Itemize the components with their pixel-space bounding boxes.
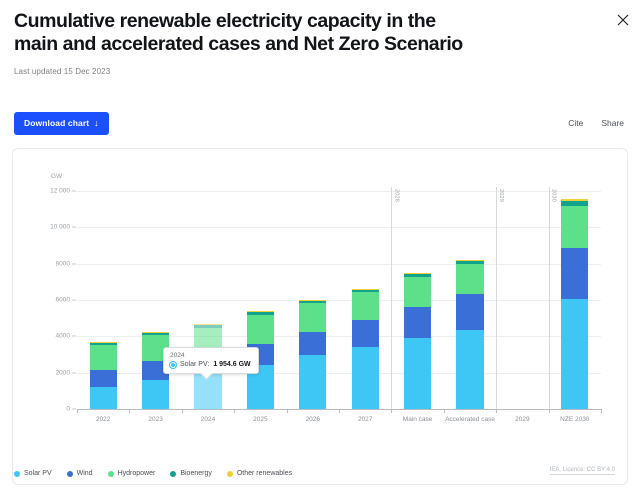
bar-segment-solar-pv <box>352 347 379 409</box>
bar-segment-bioenergy <box>142 333 169 336</box>
bar-segment-wind <box>299 332 326 356</box>
x-axis-tick-mark <box>549 409 550 413</box>
bar-2023[interactable] <box>142 191 169 409</box>
bar-segment-bioenergy <box>90 342 117 345</box>
y-axis-tick-label: 4000 <box>56 333 70 340</box>
legend-item-hydropower[interactable]: Hydropower <box>108 470 156 477</box>
cite-link[interactable]: Cite <box>568 118 583 128</box>
bar-segment-hydropower <box>247 315 274 344</box>
x-axis-tick-mark <box>601 409 602 413</box>
legend-color-dot-icon <box>170 471 176 477</box>
bar-segment-other-renewables <box>561 199 588 201</box>
close-icon[interactable] <box>616 13 630 27</box>
y-axis-tick-mark <box>72 409 76 410</box>
y-axis-unit-label: GW <box>51 173 62 180</box>
y-axis-tick-mark <box>72 372 76 373</box>
x-axis-tick-mark <box>287 409 288 413</box>
bar-segment-bioenergy <box>299 300 326 303</box>
x-axis-label-2022[interactable]: 2022 <box>96 416 110 423</box>
bar-segment-solar-pv <box>561 299 588 409</box>
tooltip-row: Solar PV: 1 954.6 GW <box>170 361 251 368</box>
bar-segment-wind <box>404 307 431 338</box>
bar-segment-wind <box>561 248 588 299</box>
bar-segment-hydropower <box>456 264 483 295</box>
bar-accelerated-case[interactable] <box>456 191 483 409</box>
action-row: Download chart ↓ Cite Share <box>0 111 640 135</box>
y-axis-tick-mark <box>72 191 76 192</box>
chart-modal: Cumulative renewable electricity capacit… <box>0 0 640 492</box>
x-axis-tick-mark <box>444 409 445 413</box>
legend-item-wind[interactable]: Wind <box>67 470 93 477</box>
bar-segment-solar-pv <box>456 330 483 409</box>
legend-color-dot-icon <box>14 471 20 477</box>
tooltip-title: 2024 <box>170 352 251 359</box>
bar-segment-bioenergy <box>456 261 483 264</box>
bar-segment-solar-pv <box>194 374 221 410</box>
bar-segment-wind <box>90 370 117 386</box>
legend-item-solar-pv[interactable]: Solar PV <box>14 470 52 477</box>
bar-segment-hydropower <box>561 206 588 247</box>
legend-item-other-renewables[interactable]: Other renewables <box>227 470 292 477</box>
y-axis-tick-label: 6000 <box>56 297 70 304</box>
x-axis-label-2024[interactable]: 2024 <box>201 416 215 423</box>
download-arrow-icon: ↓ <box>94 118 99 128</box>
bar-2027[interactable] <box>352 191 379 409</box>
bar-nze-2030[interactable] <box>561 191 588 409</box>
y-axis-tick-mark <box>72 336 76 337</box>
x-axis-tick-mark <box>234 409 235 413</box>
bar-segment-hydropower <box>404 277 431 307</box>
x-axis-label-accelerated-case[interactable]: Accelerated case <box>445 416 495 423</box>
bar-main-case[interactable] <box>404 191 431 409</box>
secondary-links: Cite Share <box>568 118 626 128</box>
tooltip-series-value: 1 954.6 GW <box>213 361 250 368</box>
tooltip-series-dot-icon <box>170 362 176 368</box>
legend-item-label: Hydropower <box>118 470 156 477</box>
legend-color-dot-icon <box>108 471 114 477</box>
bar-segment-hydropower <box>90 345 117 370</box>
bar-2026[interactable] <box>299 191 326 409</box>
bar-segment-wind <box>456 294 483 330</box>
download-chart-label: Download chart <box>24 118 89 128</box>
y-axis-tick-label: 0 <box>66 406 70 413</box>
y-axis-tick-label: 8000 <box>56 260 70 267</box>
bar-segment-hydropower <box>352 292 379 320</box>
x-axis-label-2026[interactable]: 2026 <box>306 416 320 423</box>
x-axis-label-2023[interactable]: 2023 <box>148 416 162 423</box>
y-axis-tick-label: 12 000 <box>50 188 70 195</box>
bar-segment-bioenergy <box>352 289 379 292</box>
bar-2022[interactable] <box>90 191 117 409</box>
y-axis-tick-mark <box>72 300 76 301</box>
x-axis-label-main-case[interactable]: Main case <box>403 416 433 423</box>
bar-segment-wind <box>352 320 379 347</box>
x-axis-tick-mark <box>391 409 392 413</box>
y-axis-tick-mark <box>72 263 76 264</box>
bar-series-group <box>77 191 601 409</box>
bar-segment-solar-pv <box>142 380 169 409</box>
page-title: Cumulative renewable electricity capacit… <box>14 10 484 55</box>
legend-item-label: Other renewables <box>237 470 292 477</box>
bar-segment-solar-pv <box>404 338 431 409</box>
bar-segment-bioenergy <box>194 325 221 328</box>
bar-2025[interactable] <box>247 191 274 409</box>
chart-card: GW 0200040006000800010 00012 000 2028202… <box>12 148 628 485</box>
legend-color-dot-icon <box>67 471 73 477</box>
legend-item-bioenergy[interactable]: Bioenergy <box>170 470 212 477</box>
bar-segment-bioenergy <box>247 312 274 315</box>
x-axis-label-2027[interactable]: 2027 <box>358 416 372 423</box>
x-axis-label-nze-2030[interactable]: NZE 2030 <box>560 416 589 423</box>
chart-tooltip: 2024 Solar PV: 1 954.6 GW <box>163 347 259 374</box>
legend-item-label: Wind <box>77 470 93 477</box>
share-link[interactable]: Share <box>601 118 624 128</box>
bar-segment-hydropower <box>299 303 326 332</box>
bar-segment-solar-pv <box>90 387 117 409</box>
y-axis-tick-mark <box>72 227 76 228</box>
x-axis-label-2029[interactable]: 2029 <box>515 416 529 423</box>
x-axis-label-2025[interactable]: 2025 <box>253 416 267 423</box>
last-updated-text: Last updated 15 Dec 2023 <box>14 67 626 76</box>
bar-segment-solar-pv <box>299 355 326 409</box>
bar-segment-bioenergy <box>404 274 431 277</box>
bar-segment-bioenergy <box>561 201 588 206</box>
y-axis-tick-label: 2000 <box>56 369 70 376</box>
x-axis-tick-mark <box>339 409 340 413</box>
legend-item-label: Solar PV <box>24 470 52 477</box>
attribution-text[interactable]: IEA. Licence: CC BY 4.0 <box>550 467 615 475</box>
x-axis-tick-mark <box>129 409 130 413</box>
chart-legend: Solar PVWindHydropowerBioenergyOther ren… <box>14 470 292 477</box>
legend-color-dot-icon <box>227 471 233 477</box>
y-axis-tick-label: 10 000 <box>50 224 70 231</box>
x-axis-tick-mark <box>77 409 78 413</box>
download-chart-button[interactable]: Download chart ↓ <box>14 112 109 135</box>
x-axis-tick-mark <box>182 409 183 413</box>
header: Cumulative renewable electricity capacit… <box>0 0 640 76</box>
x-axis-tick-mark <box>496 409 497 413</box>
plot-area: 0200040006000800010 00012 000 2028202920… <box>77 191 601 409</box>
legend-item-label: Bioenergy <box>180 470 212 477</box>
